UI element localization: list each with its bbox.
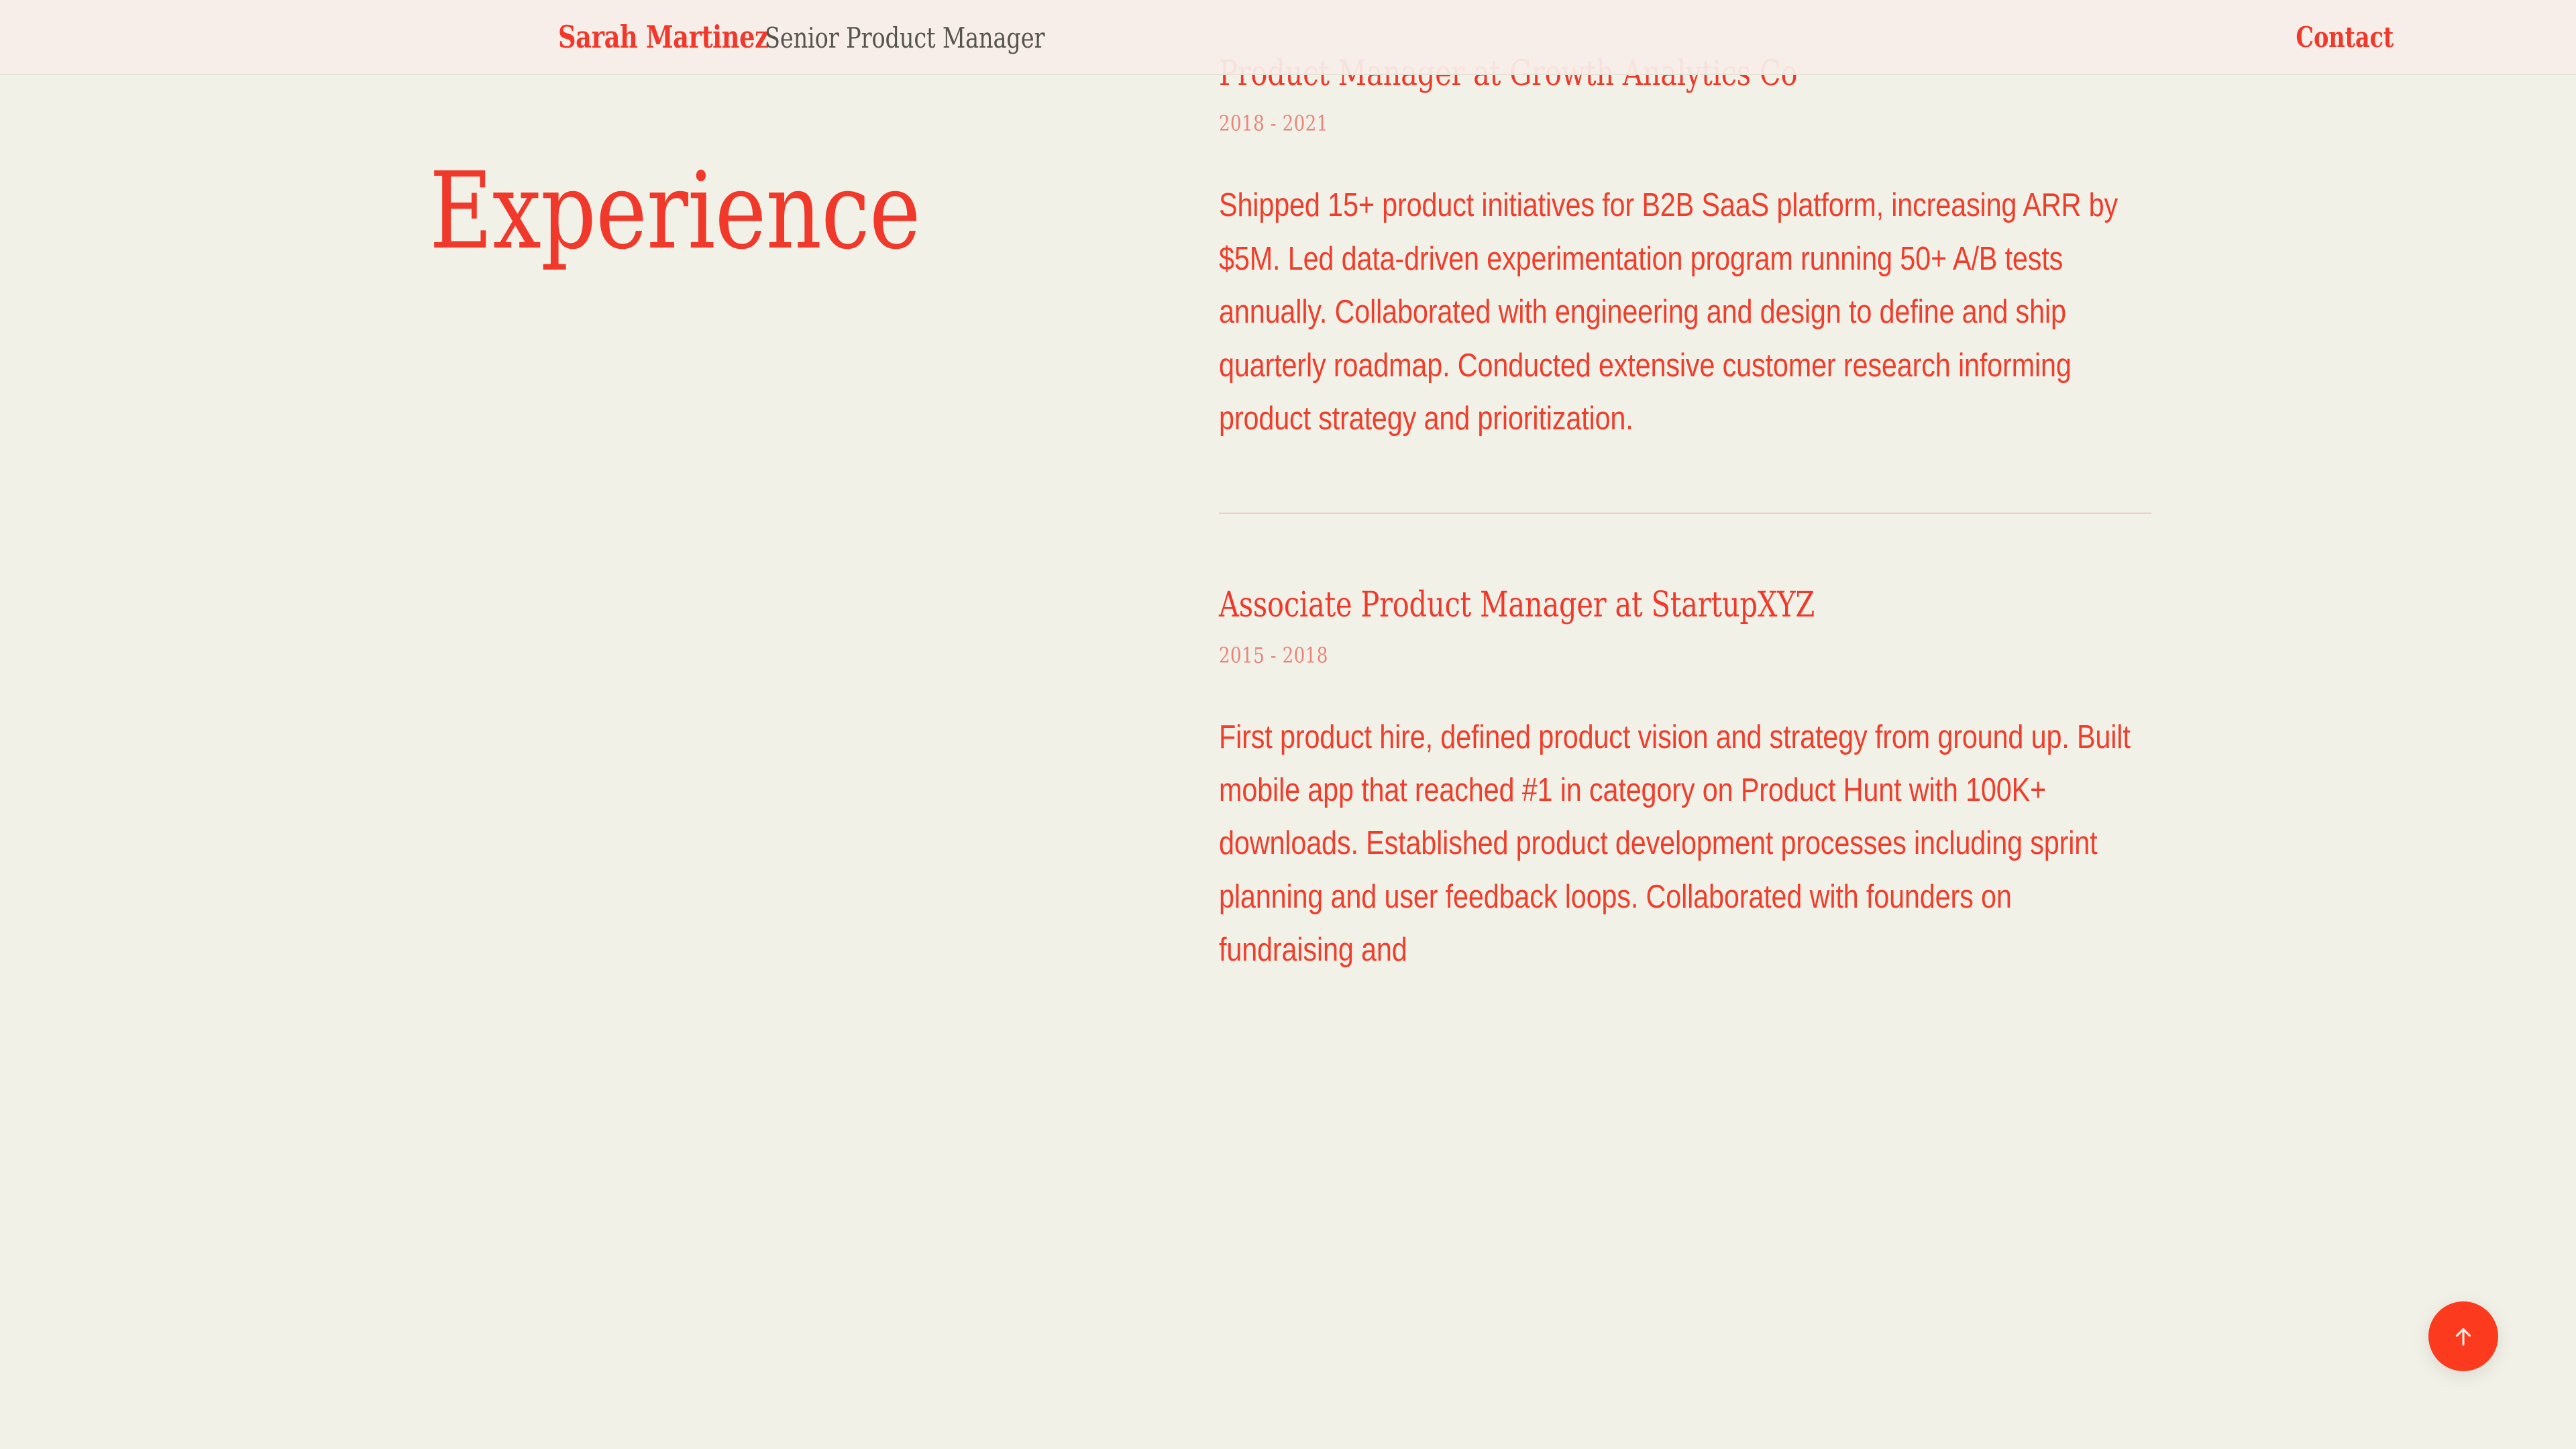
site-header: Sarah Martinez Senior Product Manager Co…	[0, 0, 2576, 75]
job-title: Associate Product Manager at StartupXYZ	[1219, 585, 1965, 626]
job-description: First product hire, defined product visi…	[1219, 711, 2149, 977]
page-root: Experience Led product strategy for a su…	[0, 0, 2576, 1449]
page-title: Experience	[429, 158, 1024, 264]
brand-role: Senior Product Manager	[765, 21, 1044, 54]
experience-item: Associate Product Manager at StartupXYZ …	[1219, 585, 2151, 977]
arrow-up-icon	[2449, 1322, 2477, 1350]
job-dates: 2018 - 2021	[1219, 111, 1984, 136]
job-dates: 2015 - 2018	[1219, 643, 1984, 668]
section-heading-column: Experience	[429, 158, 1154, 264]
experience-list: Led product strategy for a suite of ente…	[1219, 0, 2151, 977]
job-description: Shipped 15+ product initiatives for B2B …	[1219, 179, 2149, 445]
nav-link-contact[interactable]: Contact	[2296, 21, 2394, 54]
brand-name[interactable]: Sarah Martinez	[558, 19, 769, 55]
scroll-to-top-button[interactable]	[2428, 1301, 2498, 1371]
primary-nav: Contact	[2271, 21, 2394, 54]
spacer	[1219, 514, 2151, 585]
experience-item: Product Manager at Growth Analytics Co 2…	[1219, 54, 2151, 445]
brand[interactable]: Sarah Martinez Senior Product Manager	[558, 19, 1115, 55]
